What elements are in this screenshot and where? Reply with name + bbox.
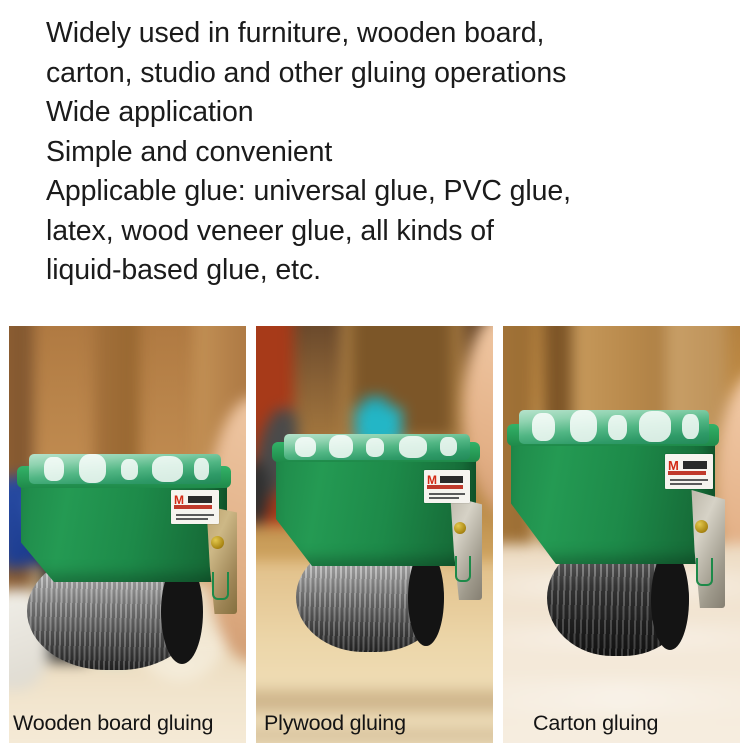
photo-panel-wooden-board: M Wooden board gluing [9,326,246,743]
photo-panel-carton: M Carton gluing [503,326,740,743]
feature-line-6: latex, wood veneer glue, all kinds of [46,212,736,252]
panel-caption-plywood: Plywood gluing [256,711,493,735]
bracket-screw [211,536,224,549]
panel-caption-carton: Carton gluing [503,711,740,735]
photo-panel-plywood: M Plywood gluing [256,326,493,743]
brand-label: M [171,490,219,524]
feature-line-4: Simple and convenient [46,133,736,173]
feature-line-3: Wide application [46,93,736,133]
product-feature-image: Widely used in furniture, wooden board, … [0,0,750,750]
glue-roller-device: M [11,464,246,694]
bracket-screw [454,522,466,534]
bracket-screw [695,520,708,533]
hopper-interior [29,454,221,484]
feature-line-7: liquid-based glue, etc. [46,251,736,291]
green-hook [696,558,713,586]
feature-line-1: Widely used in furniture, wooden board, [46,14,736,54]
brand-label: M [665,454,713,489]
feature-line-5: Applicable glue: universal glue, PVC glu… [46,172,736,212]
feature-line-2: carton, studio and other gluing operatio… [46,54,736,94]
glue-roller-device: M [505,412,739,668]
roller-end-cap [651,550,689,650]
panel-caption-wooden-board: Wooden board gluing [9,711,246,735]
brand-label: M [424,470,470,503]
hopper-interior [284,434,470,460]
glue-roller-device: M [260,438,492,678]
photo-strip: M Wooden board gluing [9,326,741,743]
feature-text-block: Widely used in furniture, wooden board, … [46,14,736,291]
green-hook [455,556,471,582]
hopper-interior [519,410,709,444]
green-hook [212,572,229,600]
